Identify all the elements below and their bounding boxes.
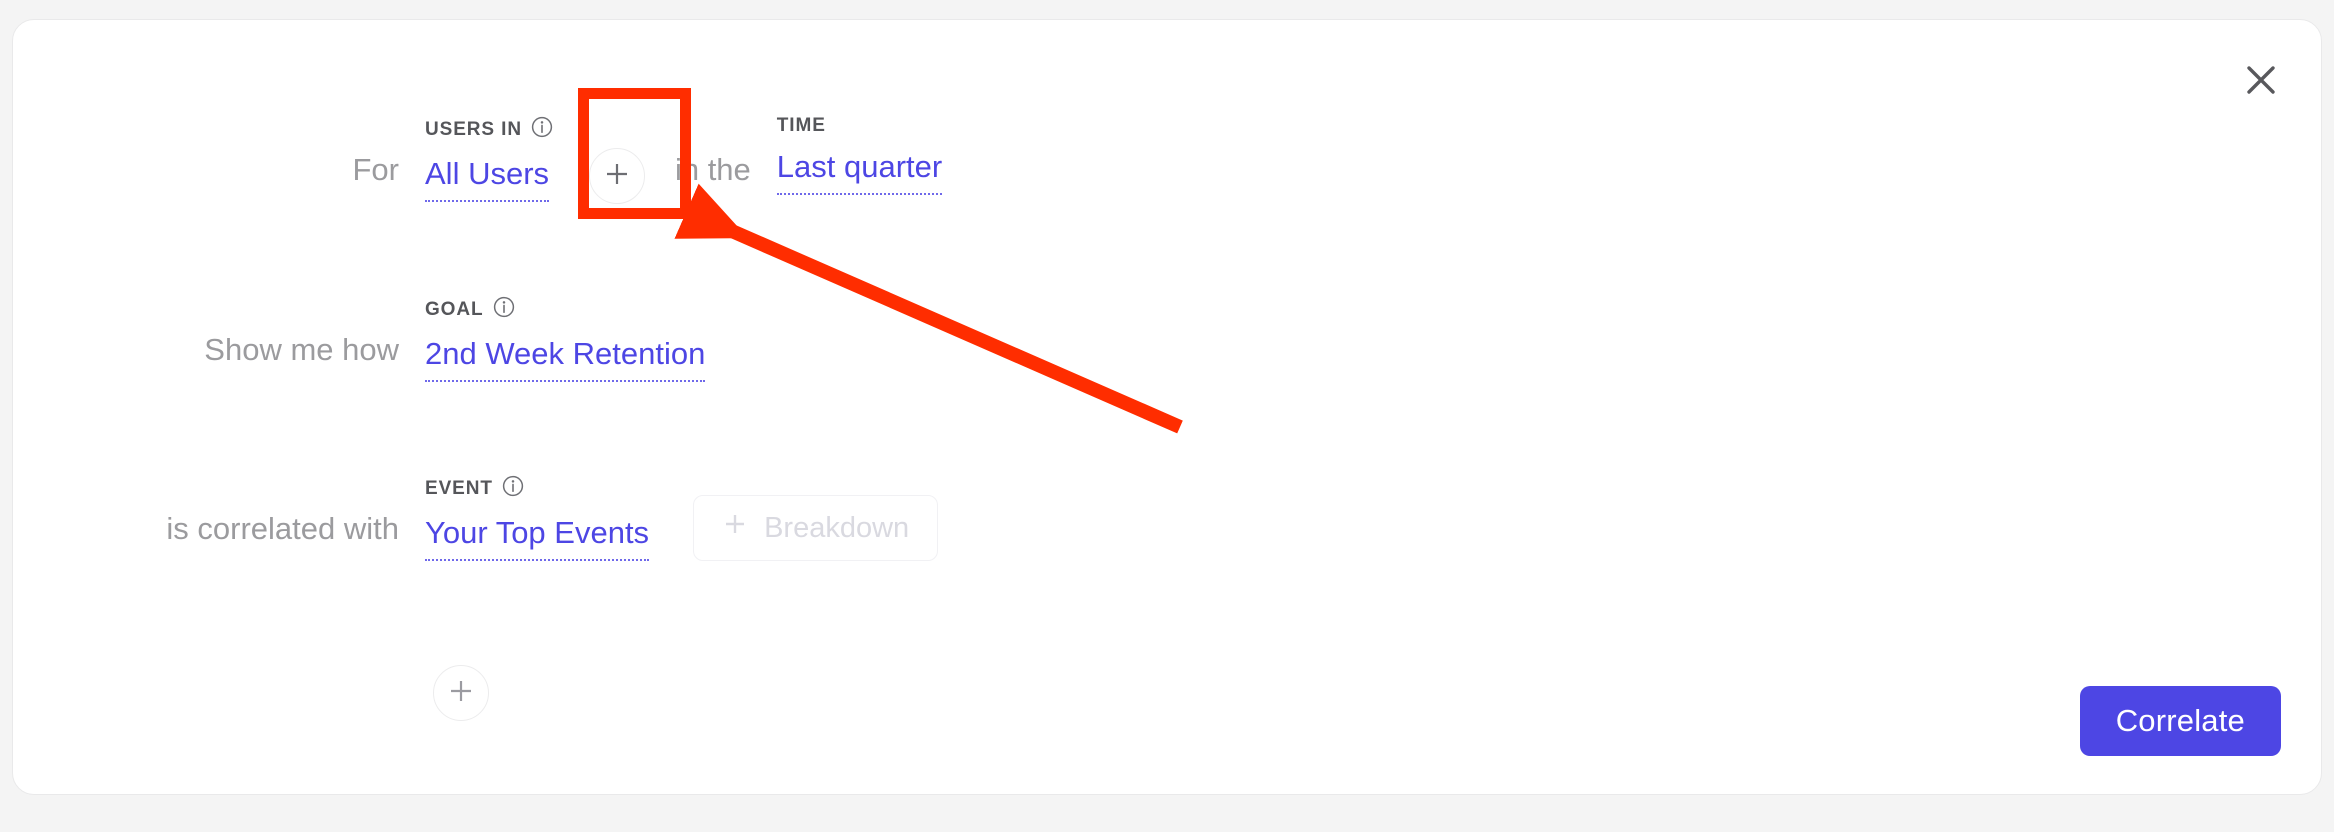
query-row-users: For USERS IN All Users (13, 116, 942, 208)
field-value-users-in[interactable]: All Users (425, 156, 549, 202)
close-button[interactable] (2235, 54, 2287, 106)
field-value-goal[interactable]: 2nd Week Retention (425, 336, 705, 382)
row-prefix-is-correlated-with: is correlated with (13, 475, 399, 544)
plus-icon (448, 678, 474, 709)
field-goal: GOAL 2nd Week Retention (425, 296, 705, 382)
add-breakdown-label: Breakdown (764, 512, 909, 545)
row-prefix-show-me-how: Show me how (13, 296, 399, 365)
plus-icon (604, 161, 630, 192)
plus-icon (722, 511, 748, 545)
add-query-row-button[interactable] (433, 665, 489, 721)
screenshot-root: For USERS IN All Users (0, 0, 2334, 832)
field-label-time: TIME (777, 116, 826, 135)
correlation-query-card: For USERS IN All Users (12, 19, 2322, 795)
field-label-text: GOAL (425, 300, 484, 319)
add-breakdown-button[interactable]: Breakdown (693, 495, 938, 561)
query-row-goal: Show me how GOAL 2nd Week Retention (13, 296, 705, 388)
field-label-users-in: USERS IN (425, 116, 553, 142)
info-icon[interactable] (502, 475, 524, 501)
field-label-text: EVENT (425, 479, 493, 498)
field-time: TIME Last quarter (777, 116, 942, 195)
field-label-text: USERS IN (425, 120, 522, 139)
field-label-text: TIME (777, 116, 826, 135)
query-row-event: is correlated with EVENT Your Top Event (13, 475, 938, 567)
info-icon[interactable] (531, 116, 553, 142)
field-users-in: USERS IN All Users (425, 116, 553, 202)
field-label-goal: GOAL (425, 296, 515, 322)
add-users-filter-plus-button[interactable] (589, 148, 645, 204)
field-value-time[interactable]: Last quarter (777, 149, 942, 195)
correlate-button[interactable]: Correlate (2080, 686, 2281, 756)
row-prefix-for: For (13, 116, 399, 185)
info-icon[interactable] (493, 296, 515, 322)
row-midfix-in-the: in the (675, 116, 751, 185)
field-label-event: EVENT (425, 475, 524, 501)
field-event: EVENT Your Top Events (425, 475, 649, 561)
close-icon (2244, 63, 2278, 97)
field-value-event[interactable]: Your Top Events (425, 515, 649, 561)
